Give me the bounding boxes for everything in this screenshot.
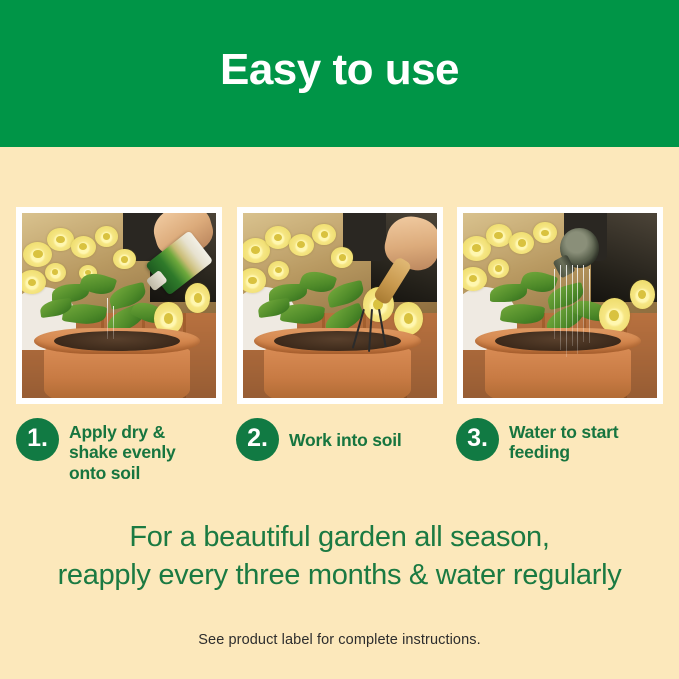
- tagline: For a beautiful garden all season, reapp…: [0, 518, 679, 595]
- page-title: Easy to use: [220, 48, 459, 100]
- footnote: See product label for complete instructi…: [0, 632, 679, 648]
- step-label-2: Work into soil: [289, 430, 402, 450]
- step-label-3: Water to start feeding: [509, 422, 618, 463]
- steps-row: 1. Apply dry & shake evenly onto soil 2.…: [16, 418, 663, 502]
- photo-3-image: [463, 213, 657, 398]
- step-number-badge-3: 3.: [456, 418, 499, 461]
- step-item-3: 3. Water to start feeding: [456, 418, 663, 502]
- step-number-badge-1: 1.: [16, 418, 59, 461]
- step-item-2: 2. Work into soil: [236, 418, 456, 502]
- step-photo-1: [16, 207, 222, 404]
- photo-2-image: [243, 213, 437, 398]
- step-number-badge-2: 2.: [236, 418, 279, 461]
- step-photo-3: [457, 207, 663, 404]
- step-item-1: 1. Apply dry & shake evenly onto soil: [16, 418, 236, 502]
- photo-1-image: [22, 213, 216, 398]
- step-label-1: Apply dry & shake evenly onto soil: [69, 422, 176, 483]
- header-banner: Easy to use: [0, 0, 679, 147]
- step-photo-2: [237, 207, 443, 404]
- photo-strip: [16, 207, 663, 404]
